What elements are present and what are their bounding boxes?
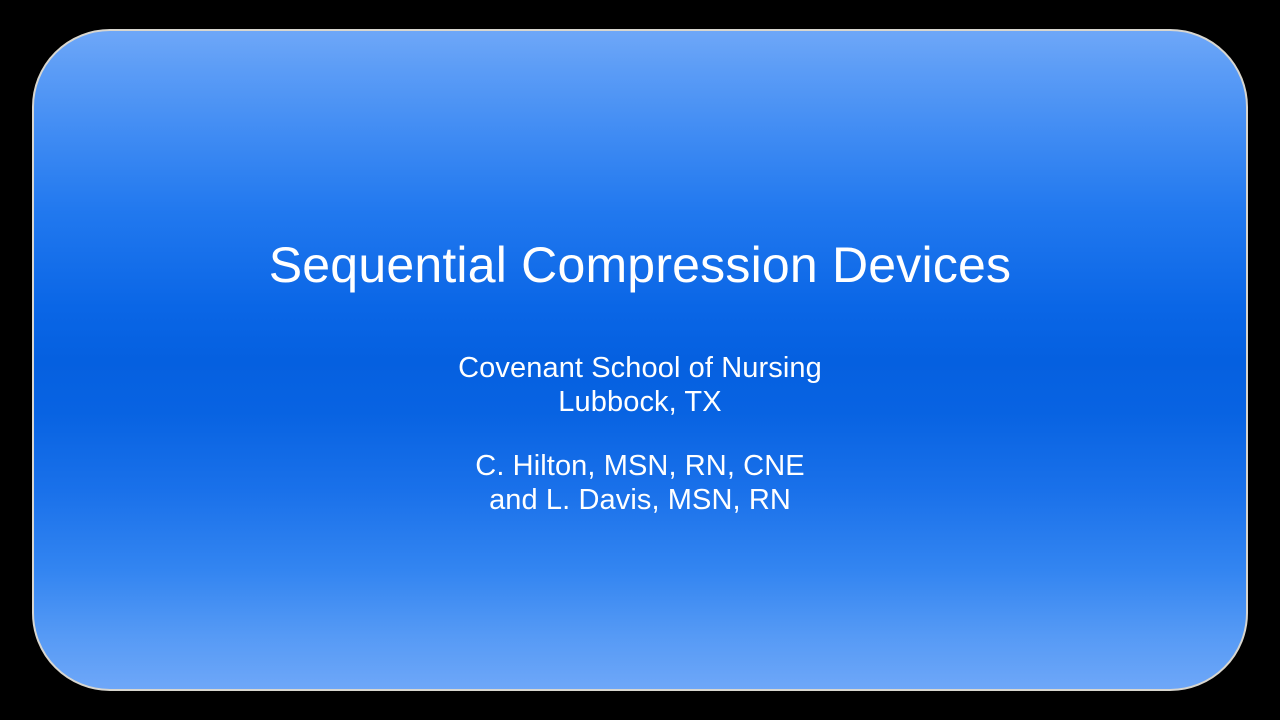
slide-content: Sequential Compression Devices Covenant … bbox=[34, 31, 1246, 689]
subtitle-line-organization: Covenant School of Nursing bbox=[34, 351, 1246, 385]
subtitle-block: Covenant School of Nursing Lubbock, TX C… bbox=[34, 351, 1246, 517]
page-title: Sequential Compression Devices bbox=[34, 236, 1246, 295]
author-line-secondary: and L. Davis, MSN, RN bbox=[34, 483, 1246, 517]
slide-stage: Sequential Compression Devices Covenant … bbox=[0, 0, 1280, 720]
subtitle-line-location: Lubbock, TX bbox=[34, 385, 1246, 419]
slide-panel: Sequential Compression Devices Covenant … bbox=[32, 29, 1248, 691]
title-block: Sequential Compression Devices bbox=[34, 236, 1246, 295]
author-line-primary: C. Hilton, MSN, RN, CNE bbox=[34, 449, 1246, 483]
subtitle-spacer bbox=[34, 419, 1246, 449]
